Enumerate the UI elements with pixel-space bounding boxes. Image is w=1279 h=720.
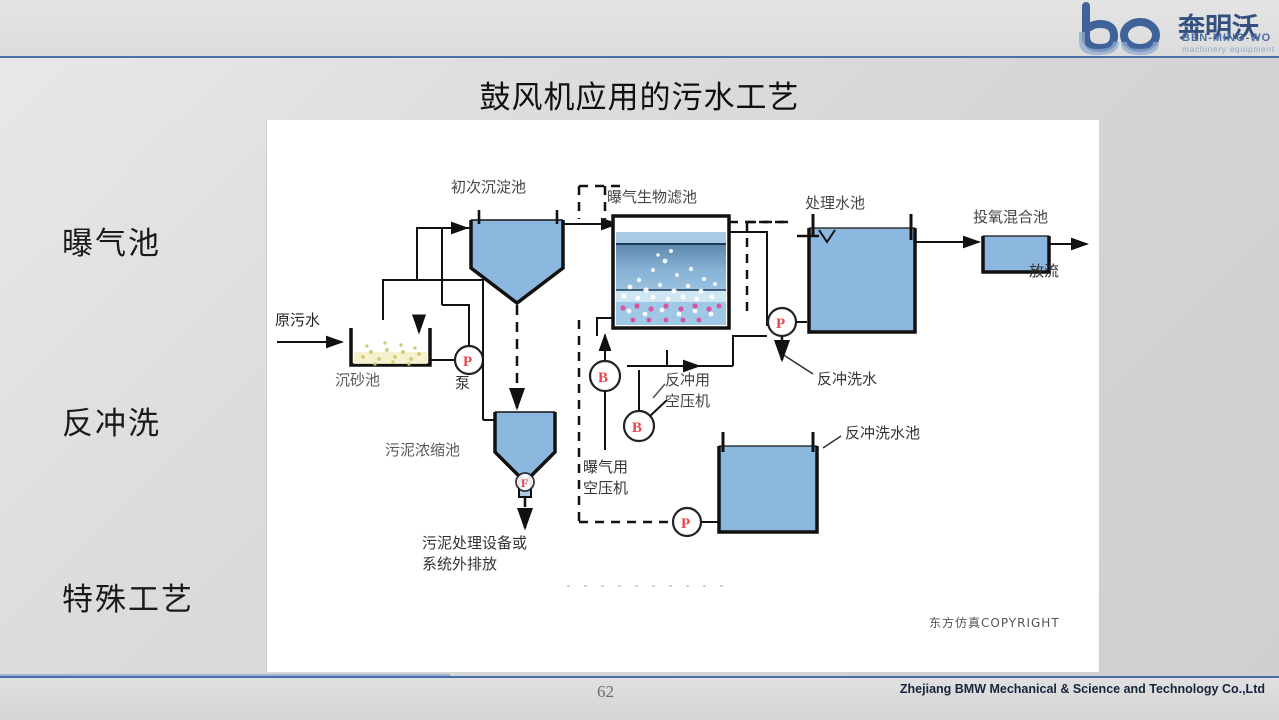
label-backwash-compressor-line2: 空压机 <box>665 392 710 410</box>
logo-tagline: machinery equipment <box>1182 44 1275 54</box>
svg-text:B: B <box>598 370 608 386</box>
label-primary-settling-tank: 初次沉淀池 <box>451 178 526 196</box>
process-flow-diagram: 原污水 沉砂池 P 泵 初次沉淀池 <box>266 120 1099 672</box>
sidebar-item-backwash[interactable]: 反冲洗 <box>62 398 161 443</box>
label-oxygen-mixing-tank: 投氧混合池 <box>973 208 1048 226</box>
logo-pinyin: BEN-MING-WO <box>1182 32 1271 44</box>
sidebar-item-special-process[interactable]: 特殊工艺 <box>62 574 194 619</box>
label-discharge: 放流 <box>1029 262 1059 280</box>
page-title: 鼓风机应用的污水工艺 <box>0 72 1279 117</box>
label-sludge-disposal-line1: 污泥处理设备或 <box>422 534 527 552</box>
svg-text:F: F <box>521 476 528 490</box>
header-divider <box>0 56 1279 58</box>
page-number: 62 <box>597 682 614 702</box>
label-treated-water-tank: 处理水池 <box>805 194 865 212</box>
label-raw-sewage: 原污水 <box>275 311 320 329</box>
footer-company-name: Zhejiang BMW Mechanical & Science and Te… <box>900 682 1265 696</box>
label-backwash-compressor-line1: 反冲用 <box>665 371 710 389</box>
label-backwash-water: 反冲洗水 <box>817 370 877 388</box>
label-aeration-compressor-line2: 空压机 <box>583 479 628 497</box>
label-pump: 泵 <box>455 374 470 392</box>
svg-text:P: P <box>463 354 472 370</box>
label-sludge-thickener: 污泥浓缩池 <box>385 441 460 459</box>
slide: 奔明沃 BEN-MING-WO machinery equipment 鼓风机应… <box>0 0 1279 720</box>
company-logo: 奔明沃 BEN-MING-WO machinery equipment <box>1078 2 1273 56</box>
label-aeration-compressor-line1: 曝气用 <box>583 458 628 476</box>
label-sludge-disposal-line2: 系统外排放 <box>422 555 497 573</box>
svg-text:P: P <box>776 316 785 332</box>
label-aerated-biofilter: 曝气生物滤池 <box>607 188 697 206</box>
diagram-watermark: 东方仿真COPYRIGHT <box>929 615 1060 630</box>
sidebar-item-aeration-tank[interactable]: 曝气池 <box>62 218 161 263</box>
svg-text:P: P <box>681 516 690 532</box>
label-grit-chamber: 沉砂池 <box>335 371 380 389</box>
label-backwash-water-tank: 反冲洗水池 <box>845 424 920 442</box>
svg-text:B: B <box>632 420 642 436</box>
diagram-svg: 原污水 沉砂池 P 泵 初次沉淀池 <box>267 120 1099 672</box>
